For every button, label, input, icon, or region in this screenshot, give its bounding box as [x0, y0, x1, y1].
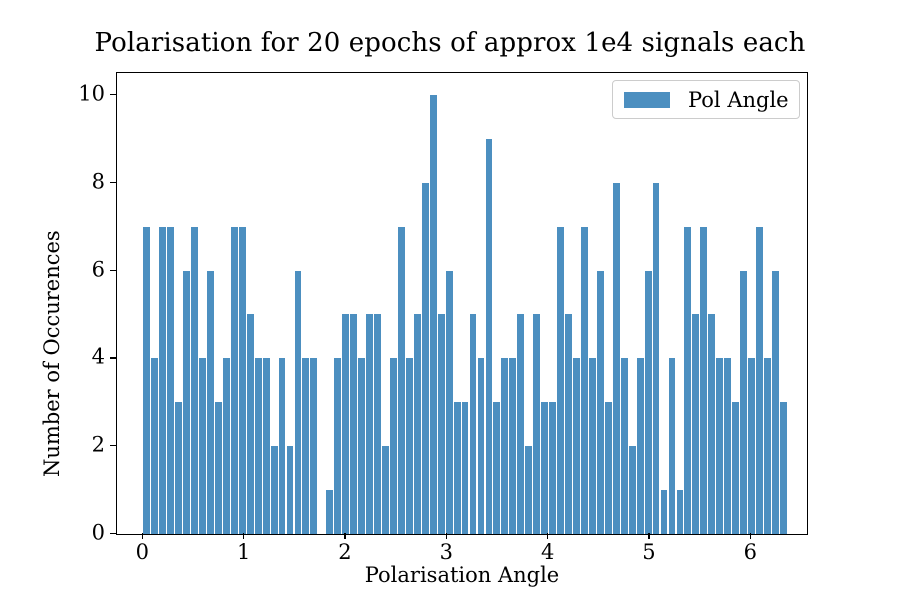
y-tick-mark: [110, 533, 116, 534]
y-tick-label: 4: [92, 347, 105, 368]
histogram-bar: [414, 314, 421, 534]
histogram-bar: [684, 227, 691, 534]
histogram-bar: [501, 358, 508, 534]
matplotlib-figure: Polarisation for 20 epochs of approx 1e4…: [0, 0, 900, 600]
x-tick-label: 1: [237, 542, 250, 563]
histogram-bar: [239, 227, 246, 534]
histogram-bar: [605, 402, 612, 534]
histogram-bar: [167, 227, 174, 534]
x-tick-mark: [648, 533, 649, 539]
x-tick-mark: [243, 533, 244, 539]
histogram-bar: [486, 139, 493, 534]
histogram-bar: [454, 402, 461, 534]
histogram-bar: [231, 227, 238, 534]
histogram-bar: [302, 358, 309, 534]
y-tick-mark: [110, 445, 116, 446]
histogram-bar: [493, 402, 500, 534]
histogram-bar: [613, 183, 620, 534]
x-tick-mark: [344, 533, 345, 539]
x-axis-label: Polarisation Angle: [116, 563, 808, 587]
histogram-bar: [398, 227, 405, 534]
histogram-bar: [740, 271, 747, 534]
histogram-bar: [621, 358, 628, 534]
y-tick-label: 6: [92, 259, 105, 280]
histogram-bar: [708, 314, 715, 534]
y-tick-label: 2: [92, 435, 105, 456]
histogram-bar: [669, 358, 676, 534]
histogram-bar: [517, 314, 524, 534]
histogram-bar: [653, 183, 660, 534]
y-axis-label: Number of Occurences: [40, 230, 64, 477]
x-tick-mark: [446, 533, 447, 539]
histogram-bar: [549, 402, 556, 534]
histogram-bar: [780, 402, 787, 534]
histogram-bar: [287, 446, 294, 534]
x-tick-label: 5: [642, 542, 655, 563]
histogram-bar: [565, 314, 572, 534]
histogram-bar: [199, 358, 206, 534]
histogram-bar: [326, 490, 333, 534]
histogram-bar: [756, 227, 763, 534]
histogram-bar: [557, 227, 564, 534]
histogram-bar: [263, 358, 270, 534]
histogram-bar: [310, 358, 317, 534]
histogram-bar: [629, 446, 636, 534]
histogram-bar: [772, 271, 779, 534]
x-tick-label: 2: [338, 542, 351, 563]
histogram-bar: [390, 358, 397, 534]
histogram-bar: [247, 314, 254, 534]
histogram-bar: [764, 358, 771, 534]
histogram-bar: [143, 227, 150, 534]
chart-title: Polarisation for 20 epochs of approx 1e4…: [0, 28, 900, 58]
legend-swatch-pol-angle: [624, 92, 670, 108]
histogram-bar: [446, 271, 453, 534]
histogram-bar: [597, 271, 604, 534]
histogram-bar: [525, 446, 532, 534]
histogram-bar: [589, 358, 596, 534]
histogram-bar: [374, 314, 381, 534]
x-tick-mark: [142, 533, 143, 539]
histogram-bar: [255, 358, 262, 534]
histogram-bars: [117, 73, 807, 534]
histogram-bar: [422, 183, 429, 534]
y-tick-label: 10: [78, 83, 105, 104]
histogram-bar: [533, 314, 540, 534]
histogram-bar: [438, 314, 445, 534]
histogram-bar: [541, 402, 548, 534]
histogram-bar: [637, 358, 644, 534]
y-tick-mark: [110, 94, 116, 95]
histogram-bar: [358, 358, 365, 534]
y-tick-mark: [110, 182, 116, 183]
histogram-bar: [207, 271, 214, 534]
histogram-bar: [732, 402, 739, 534]
histogram-bar: [223, 358, 230, 534]
histogram-bar: [645, 271, 652, 534]
y-tick-mark: [110, 357, 116, 358]
histogram-bar: [478, 358, 485, 534]
y-tick-label: 8: [92, 171, 105, 192]
histogram-bar: [462, 402, 469, 534]
histogram-bar: [334, 358, 341, 534]
histogram-bar: [279, 358, 286, 534]
histogram-bar: [342, 314, 349, 534]
histogram-bar: [295, 271, 302, 534]
histogram-bar: [748, 358, 755, 534]
histogram-bar: [175, 402, 182, 534]
x-tick-mark: [750, 533, 751, 539]
histogram-bar: [151, 358, 158, 534]
histogram-bar: [677, 490, 684, 534]
histogram-bar: [215, 402, 222, 534]
histogram-bar: [724, 358, 731, 534]
histogram-bar: [430, 95, 437, 534]
histogram-bar: [366, 314, 373, 534]
histogram-bar: [406, 358, 413, 534]
histogram-bar: [716, 358, 723, 534]
y-tick-label: 0: [92, 523, 105, 544]
plot-area: [116, 72, 808, 535]
histogram-bar: [271, 446, 278, 534]
x-tick-label: 3: [440, 542, 453, 563]
histogram-bar: [581, 227, 588, 534]
histogram-bar: [382, 446, 389, 534]
x-tick-label: 4: [541, 542, 554, 563]
x-tick-mark: [547, 533, 548, 539]
histogram-bar: [183, 271, 190, 534]
x-tick-label: 0: [136, 542, 149, 563]
histogram-bar: [350, 314, 357, 534]
legend: Pol Angle: [612, 80, 800, 119]
histogram-bar: [470, 314, 477, 534]
histogram-bar: [692, 314, 699, 534]
histogram-bar: [191, 227, 198, 534]
histogram-bar: [700, 227, 707, 534]
histogram-bar: [509, 358, 516, 534]
histogram-bar: [573, 358, 580, 534]
y-tick-mark: [110, 270, 116, 271]
legend-label-pol-angle: Pol Angle: [688, 88, 789, 112]
x-tick-label: 6: [744, 542, 757, 563]
histogram-bar: [661, 490, 668, 534]
histogram-bar: [159, 227, 166, 534]
